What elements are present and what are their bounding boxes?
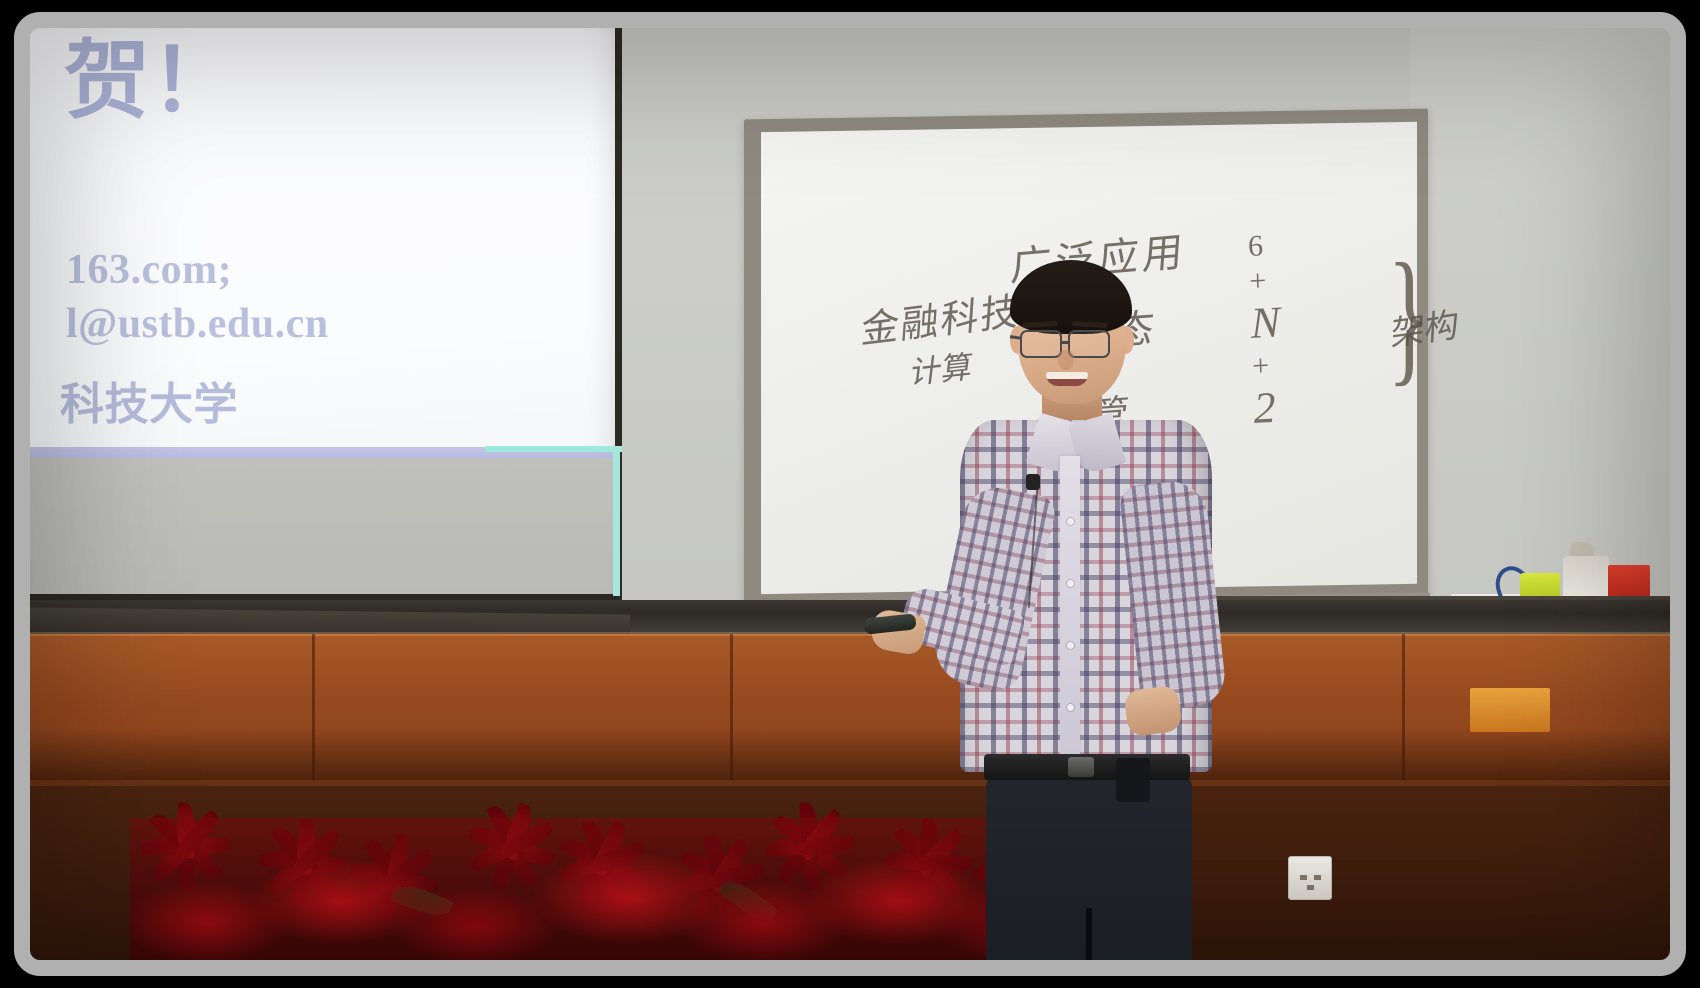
slide-organization-text: 科技大学 [60,368,238,432]
presenter-mouth [1046,372,1088,386]
equation-denominator: 2 [1253,382,1284,434]
shirt-placket [1060,456,1080,756]
projection-screen: 贺！ 163.com; l@ustb.edu.cn 科技大学 [30,28,622,600]
slide-email-line-2: l@ustb.edu.cn [66,300,329,348]
presenter [940,268,1240,960]
desk-edge-highlight [30,632,1670,636]
pocket-phone [1116,758,1150,802]
photo-canvas: 贺！ 163.com; l@ustb.edu.cn 科技大学 金融科技 计算 广… [30,28,1670,960]
outlet-slot [1300,875,1307,880]
equation-numerator: 6 [1247,229,1278,265]
equation-variable: N [1250,297,1281,349]
belt-buckle [1068,757,1094,777]
wall-panel-right [1470,688,1550,732]
eyeglasses-bridge [1061,341,1070,344]
slide-email-line-1: 163.com; [66,246,232,294]
wall-outlet [1288,856,1332,900]
slide-lower-area [30,458,615,594]
slide-teal-edge-bottom [485,446,622,452]
slide-title-text: 贺！ [64,28,237,135]
equation-operator-1: + [1249,263,1280,299]
shirt-button [1067,704,1074,711]
whiteboard-equation: 6 + N + 2 [1247,229,1283,435]
slide-teal-edge-right [613,446,620,596]
equation-operator-2: + [1252,348,1283,384]
desk-shadow [30,728,1670,786]
eyeglasses-lens-right [1068,330,1110,358]
shirt-button [1067,580,1074,587]
shirt-button [1067,518,1074,525]
outlet-slot [1314,875,1321,880]
eyeglasses-lens-left [1020,330,1062,358]
whiteboard-equation-label: 架构 [1390,297,1460,356]
presenter-right-hand [1123,684,1183,737]
presenter-nose [1058,350,1074,370]
outlet-slot [1307,885,1314,890]
shirt-button [1067,642,1074,649]
photo-frame: 贺！ 163.com; l@ustb.edu.cn 科技大学 金融科技 计算 广… [14,12,1686,976]
presenter-teeth [1046,372,1088,379]
presenter-trouser-seam [1086,908,1092,960]
